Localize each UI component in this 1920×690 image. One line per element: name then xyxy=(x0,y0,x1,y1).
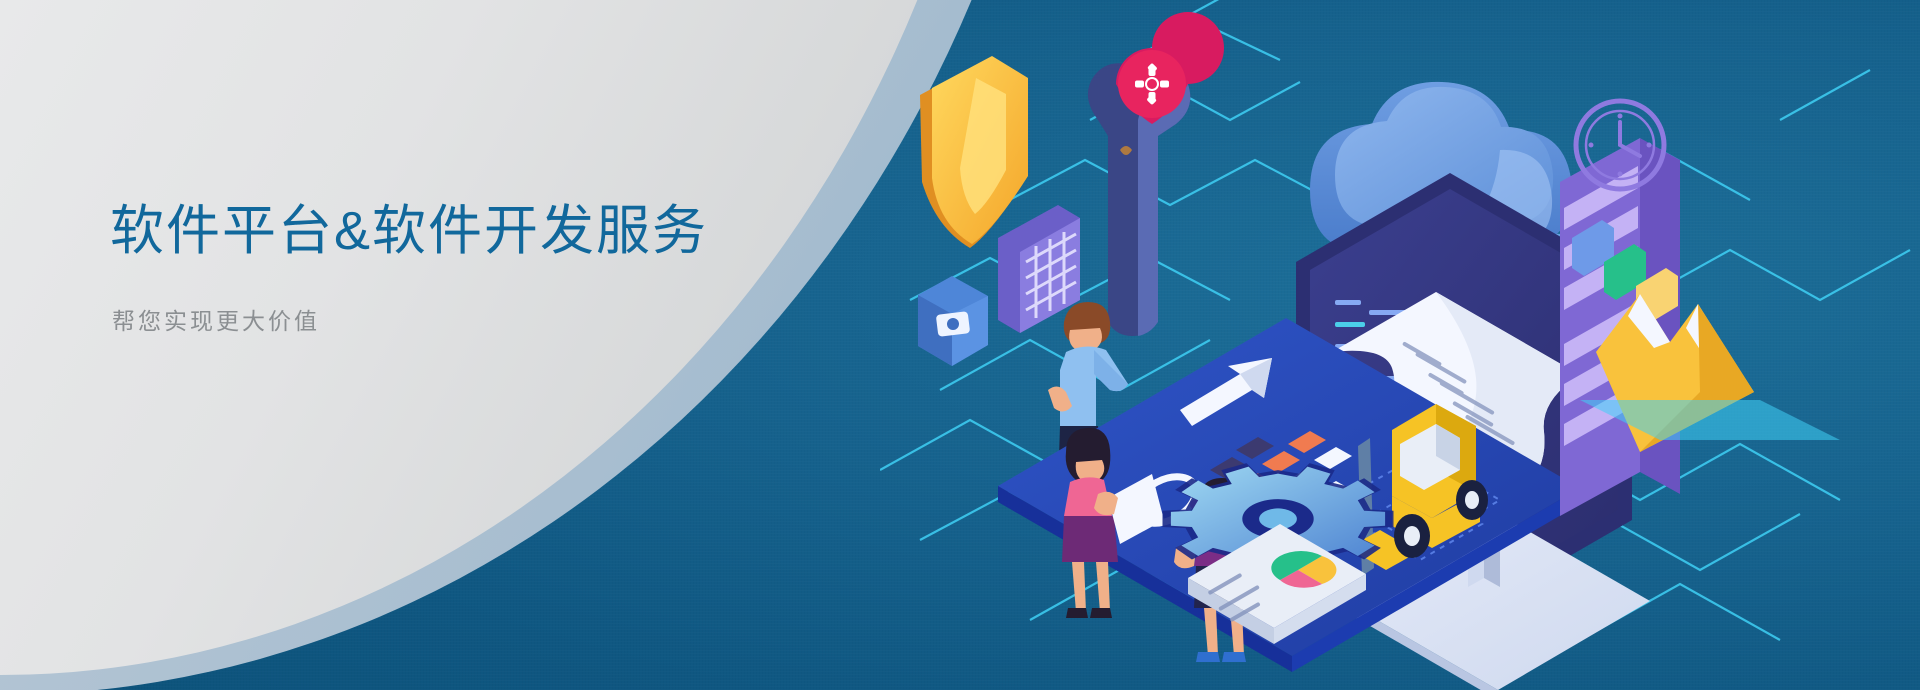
page-subtitle: 帮您实现更大价值 xyxy=(112,302,708,336)
camera-icon xyxy=(918,276,988,366)
shield-icon xyxy=(920,56,1028,248)
clock-icon xyxy=(1576,101,1664,189)
hero-illustration xyxy=(880,0,1920,690)
hero-copy: 软件平台&软件开发服务 帮您实现更大价值 xyxy=(110,200,708,336)
hero-banner: 软件平台&软件开发服务 帮您实现更大价值 xyxy=(0,0,1920,690)
page-title: 软件平台&软件开发服务 xyxy=(110,200,708,264)
